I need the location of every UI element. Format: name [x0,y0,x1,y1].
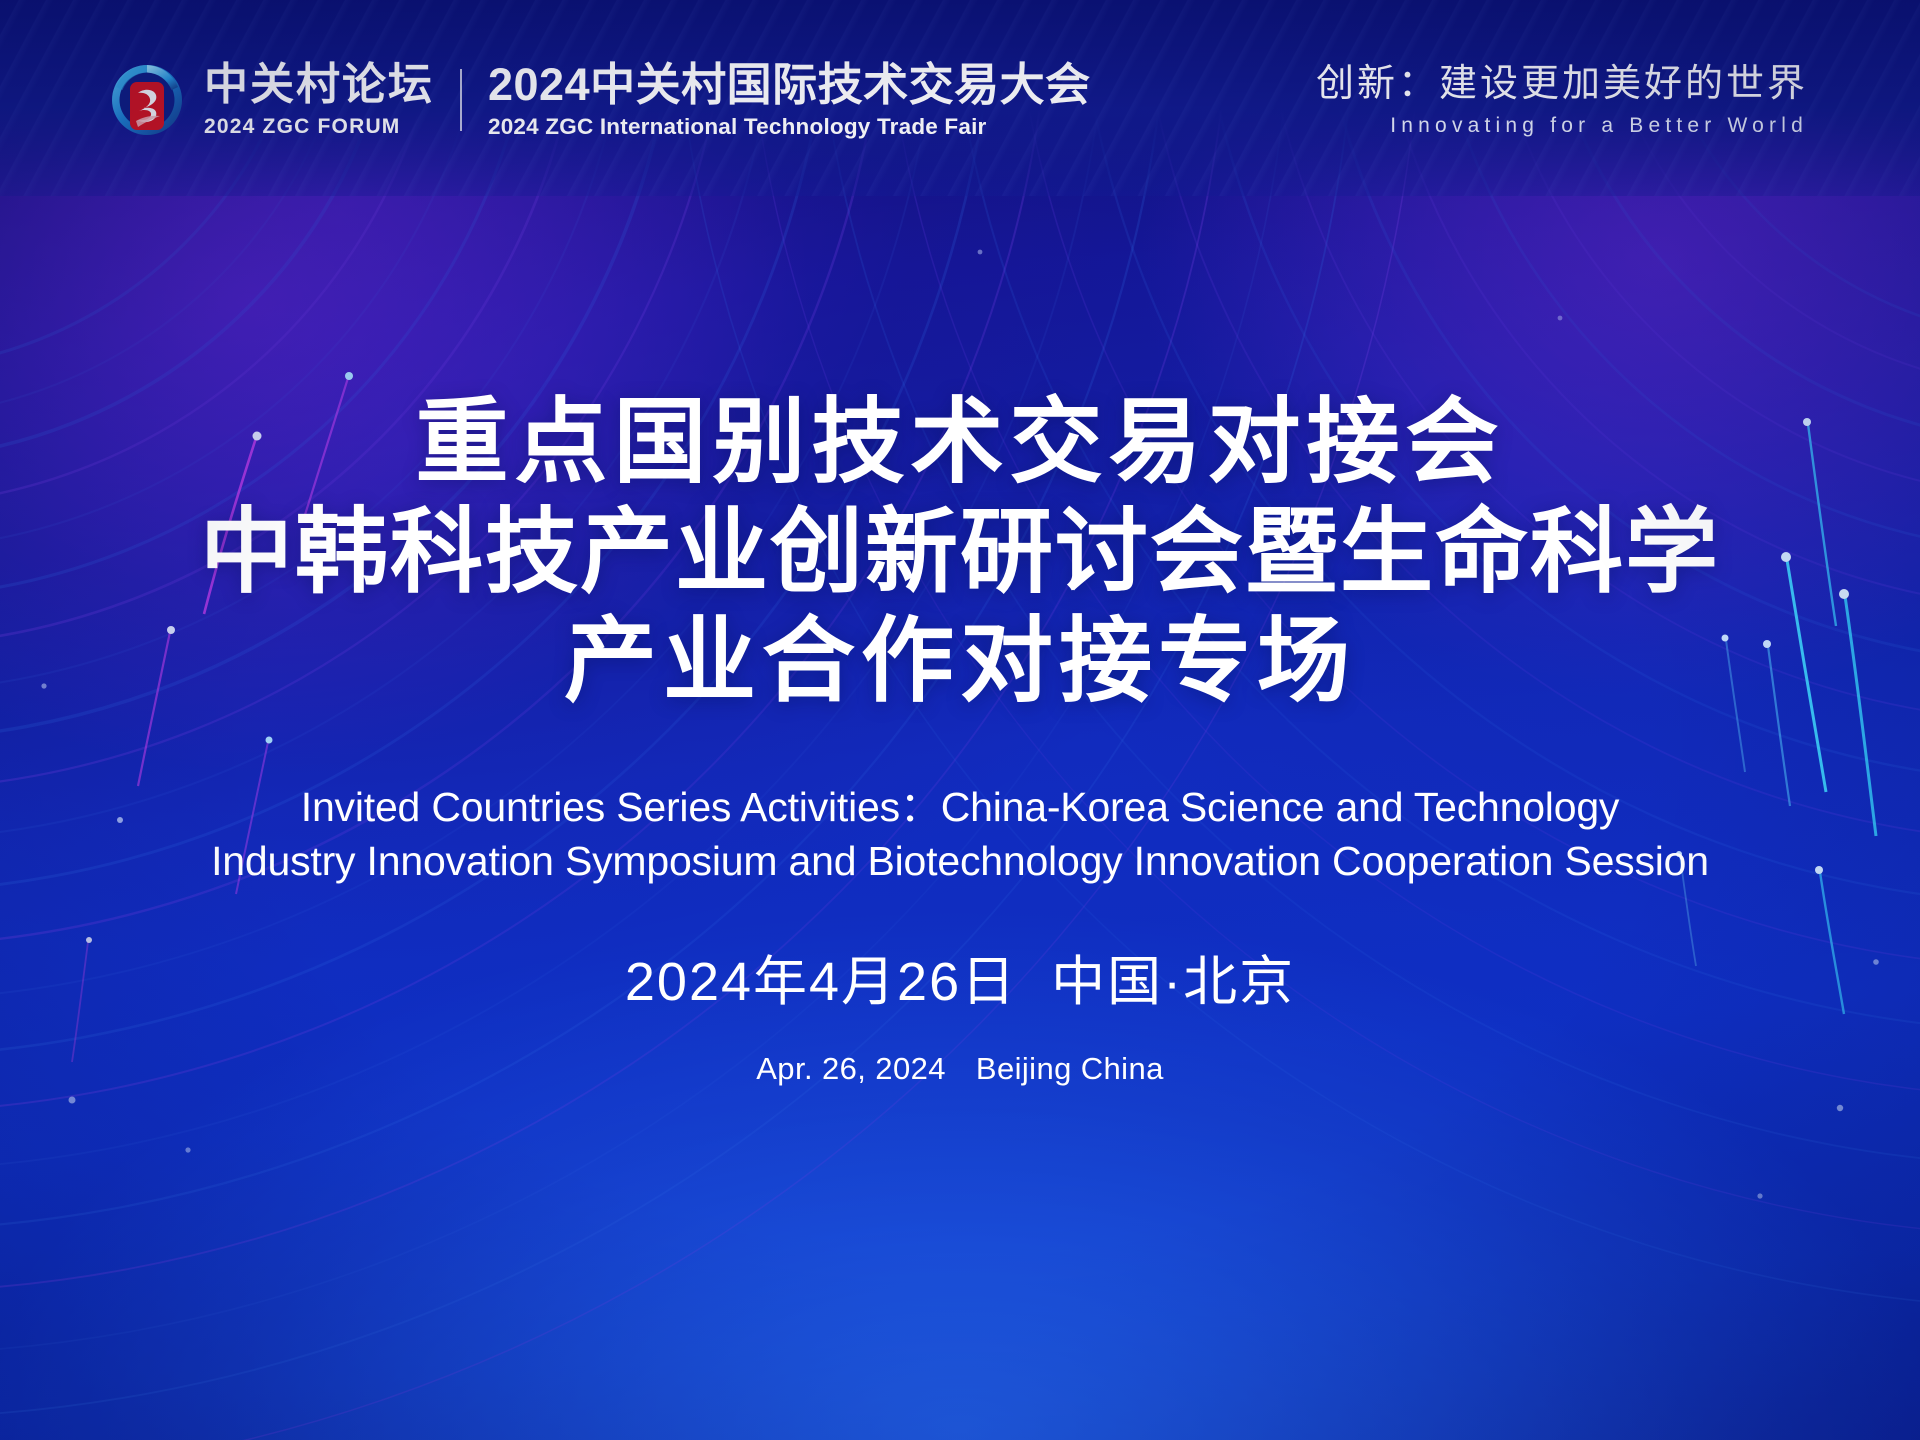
event-date-en: Apr. 26, 2024 [756,1051,946,1086]
zgc-forum-emblem-icon [106,59,188,141]
brand-lockup: 中关村论坛 2024 ZGC FORUM 2024中关村国际技术交易大会 202… [106,59,1091,141]
fair-title-zh: 2024中关村国际技术交易大会 [488,62,1091,107]
event-title: 重点国别技术交易对接会 中韩科技产业创新研讨会暨生命科学 产业合作对接专场 [0,388,1920,717]
event-title-line-3: 产业合作对接专场 [0,607,1920,717]
event-date-zh-row: 2024年4月26日中国·北京 [0,955,1920,1009]
event-location-zh: 中国·北京 [1051,952,1295,1012]
brand-divider [460,69,462,131]
fair-title-block: 2024中关村国际技术交易大会 2024 ZGC International T… [488,62,1091,139]
brand-name-en: 2024 ZGC FORUM [204,116,434,137]
banner-header: 中关村论坛 2024 ZGC FORUM 2024中关村国际技术交易大会 202… [0,0,1920,200]
conference-banner: 中关村论坛 2024 ZGC FORUM 2024中关村国际技术交易大会 202… [0,0,1920,1440]
event-subtitle-line-2: Industry Innovation Symposium and Biotec… [0,834,1920,888]
event-date-zh: 2024年4月26日 [625,952,1017,1012]
fair-title-en: 2024 ZGC International Technology Trade … [488,116,1091,139]
brand-name-zh: 中关村论坛 [204,63,434,107]
slogan-en: Innovating for a Better World [1316,115,1808,136]
event-date-location: 2024年4月26日中国·北京 Apr. 26, 2024Beijing Chi… [0,955,1920,1084]
event-location-en: Beijing China [976,1051,1164,1086]
event-title-line-1: 重点国别技术交易对接会 [0,388,1920,498]
slogan-zh: 创新：建设更加美好的世界 [1316,65,1808,103]
event-subtitle-line-1: Invited Countries Series Activities：Chin… [0,780,1920,834]
event-title-line-2: 中韩科技产业创新研讨会暨生命科学 [0,498,1920,608]
brand-text-block: 中关村论坛 2024 ZGC FORUM [204,63,458,137]
event-subtitle-en: Invited Countries Series Activities：Chin… [0,780,1920,888]
slogan-block: 创新：建设更加美好的世界 Innovating for a Better Wor… [1316,65,1808,136]
banner-main-content: 重点国别技术交易对接会 中韩科技产业创新研讨会暨生命科学 产业合作对接专场 In… [0,0,1920,1440]
event-date-en-row: Apr. 26, 2024Beijing China [0,1053,1920,1084]
